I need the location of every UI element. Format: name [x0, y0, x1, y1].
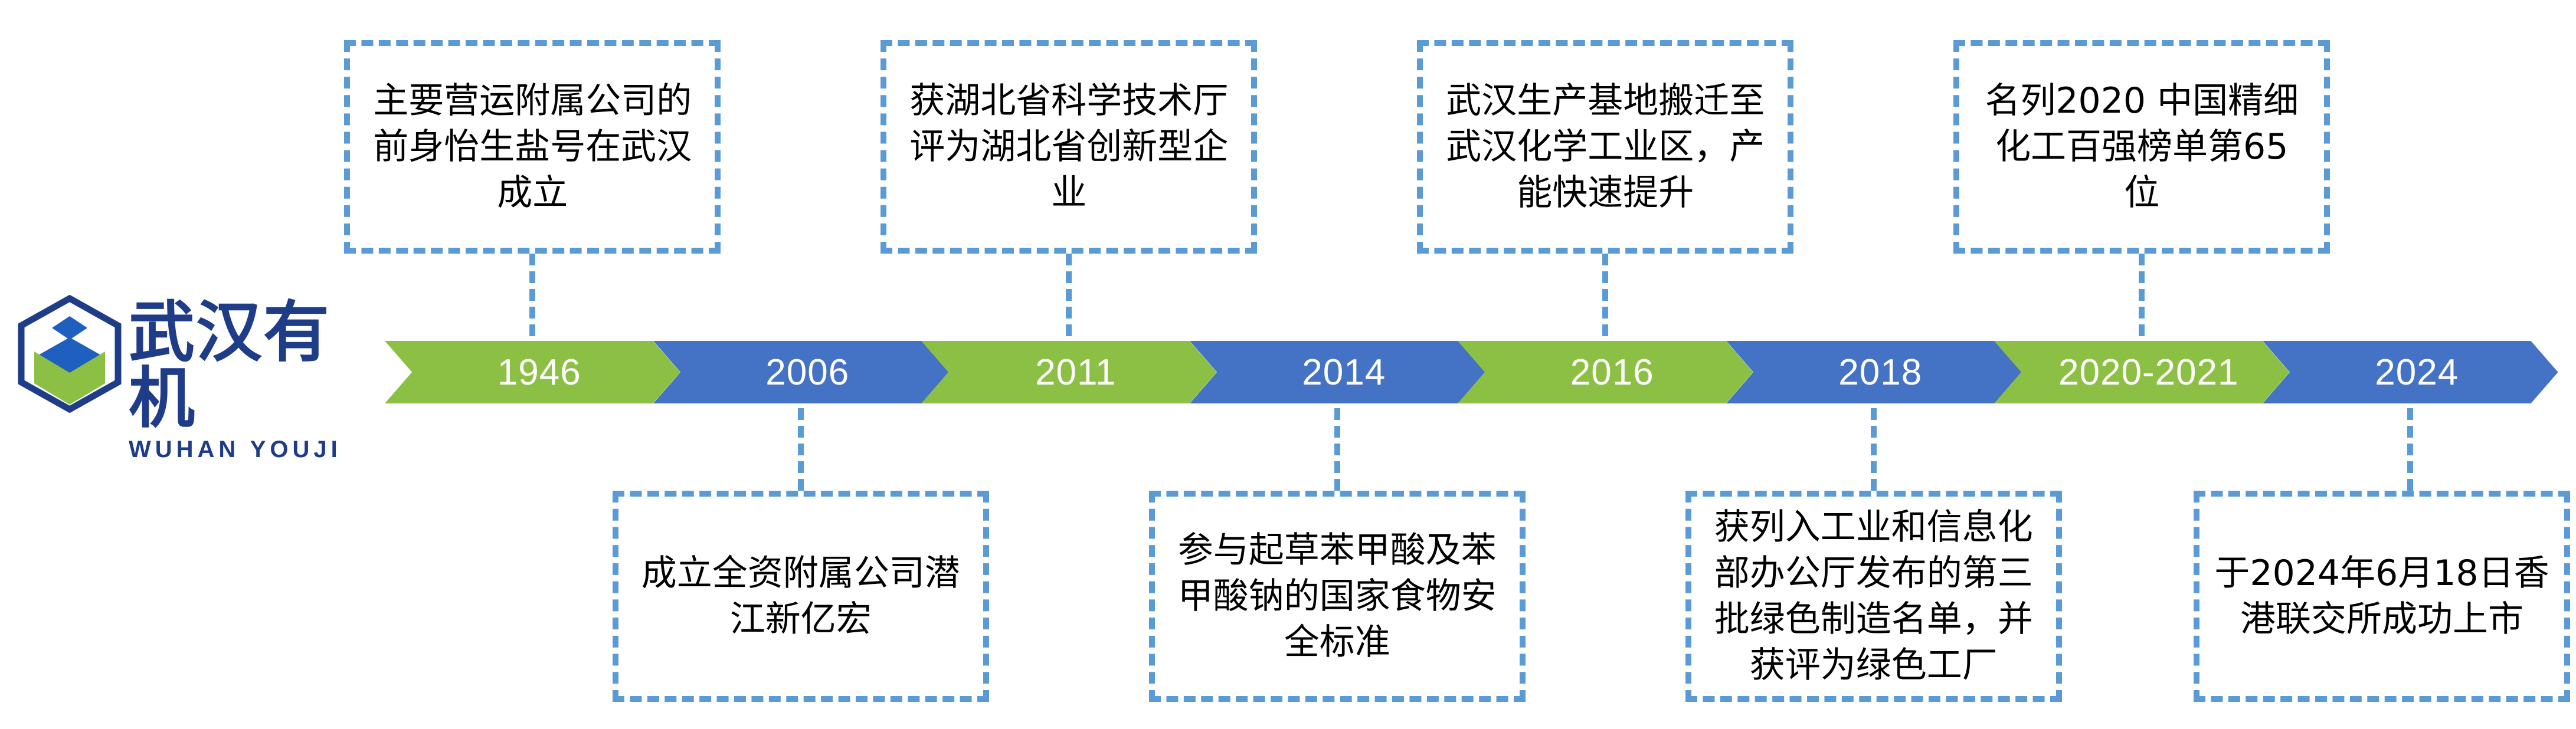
callout-text: 获列入工业和信息化部办公厅发布的第三批绿色制造名单，并获评为绿色工厂: [1691, 504, 2056, 688]
callout-text: 参与起草苯甲酸及苯甲酸钠的国家食物安全标准: [1155, 527, 1520, 665]
callout-text: 名列2020 中国精细化工百强榜单第65 位: [1959, 78, 2324, 216]
chevron-year-label: 2011: [1035, 352, 1116, 393]
chevron-year-label: 2016: [1570, 352, 1654, 393]
callout-connector-2011: [1066, 254, 1072, 336]
callout-text: 获湖北省科学技术厅评为湖北省创新型企业: [886, 78, 1251, 216]
callout-connector-2014: [1334, 408, 1340, 491]
callout-box-2011[interactable]: 获湖北省科学技术厅评为湖北省创新型企业: [881, 40, 1257, 254]
chevron-year-label: 2014: [1302, 352, 1386, 393]
timeline-chevron-bar: 1946200620112014201620182020-20212024: [385, 341, 2531, 403]
company-logo: 武汉有机 WUHAN YOUJI: [17, 295, 356, 413]
timeline-chevron-2014[interactable]: 2014: [1190, 341, 1485, 403]
timeline-infographic: 武汉有机 WUHAN YOUJI 19462006201120142016201…: [0, 0, 2576, 729]
callout-connector-1946: [529, 254, 535, 336]
hexagon-leaf-logo-icon: [17, 295, 123, 413]
timeline-chevron-2011[interactable]: 2011: [921, 341, 1217, 403]
callout-text: 武汉生产基地搬迁至武汉化学工业区，产能快速提升: [1423, 78, 1788, 216]
timeline-chevron-2016[interactable]: 2016: [1458, 341, 1753, 403]
chevron-year-label: 2018: [1838, 352, 1922, 393]
callout-connector-2006: [798, 408, 804, 491]
callout-box-2018[interactable]: 获列入工业和信息化部办公厅发布的第三批绿色制造名单，并获评为绿色工厂: [1685, 491, 2062, 702]
callout-text: 于2024年6月18日香港联交所成功上市: [2199, 550, 2564, 642]
timeline-chevron-2024[interactable]: 2024: [2263, 341, 2558, 403]
callout-connector-2024: [2407, 408, 2413, 491]
chevron-year-label: 1946: [497, 352, 581, 393]
callout-box-2014[interactable]: 参与起草苯甲酸及苯甲酸钠的国家食物安全标准: [1149, 491, 1526, 702]
logo-name-cn: 武汉有机: [129, 300, 356, 432]
timeline-chevron-2006[interactable]: 2006: [653, 341, 949, 403]
callout-box-2016[interactable]: 武汉生产基地搬迁至武汉化学工业区，产能快速提升: [1417, 40, 1793, 254]
chevron-year-label: 2020-2021: [2058, 352, 2239, 393]
timeline-chevron-2020-2021[interactable]: 2020-2021: [1994, 341, 2290, 403]
callout-text: 主要营运附属公司的前身怡生盐号在武汉成立: [350, 78, 715, 216]
timeline-chevron-1946[interactable]: 1946: [385, 341, 680, 403]
callout-box-1946[interactable]: 主要营运附属公司的前身怡生盐号在武汉成立: [344, 40, 721, 254]
callout-connector-2018: [1871, 408, 1877, 491]
callout-connector-2016: [1602, 254, 1608, 336]
logo-name-en: WUHAN YOUJI: [129, 438, 356, 461]
callout-box-2024[interactable]: 于2024年6月18日香港联交所成功上市: [2194, 491, 2570, 702]
chevron-year-label: 2006: [765, 352, 849, 393]
chevron-year-label: 2024: [2375, 352, 2459, 393]
callout-text: 成立全资附属公司潜江新亿宏: [618, 550, 983, 642]
callout-box-2020-2021[interactable]: 名列2020 中国精细化工百强榜单第65 位: [1953, 40, 2330, 254]
logo-wordmark: 武汉有机 WUHAN YOUJI: [129, 300, 356, 409]
callout-box-2006[interactable]: 成立全资附属公司潜江新亿宏: [613, 491, 989, 702]
timeline-chevron-2018[interactable]: 2018: [1726, 341, 2022, 403]
callout-connector-2020-2021: [2139, 254, 2145, 336]
